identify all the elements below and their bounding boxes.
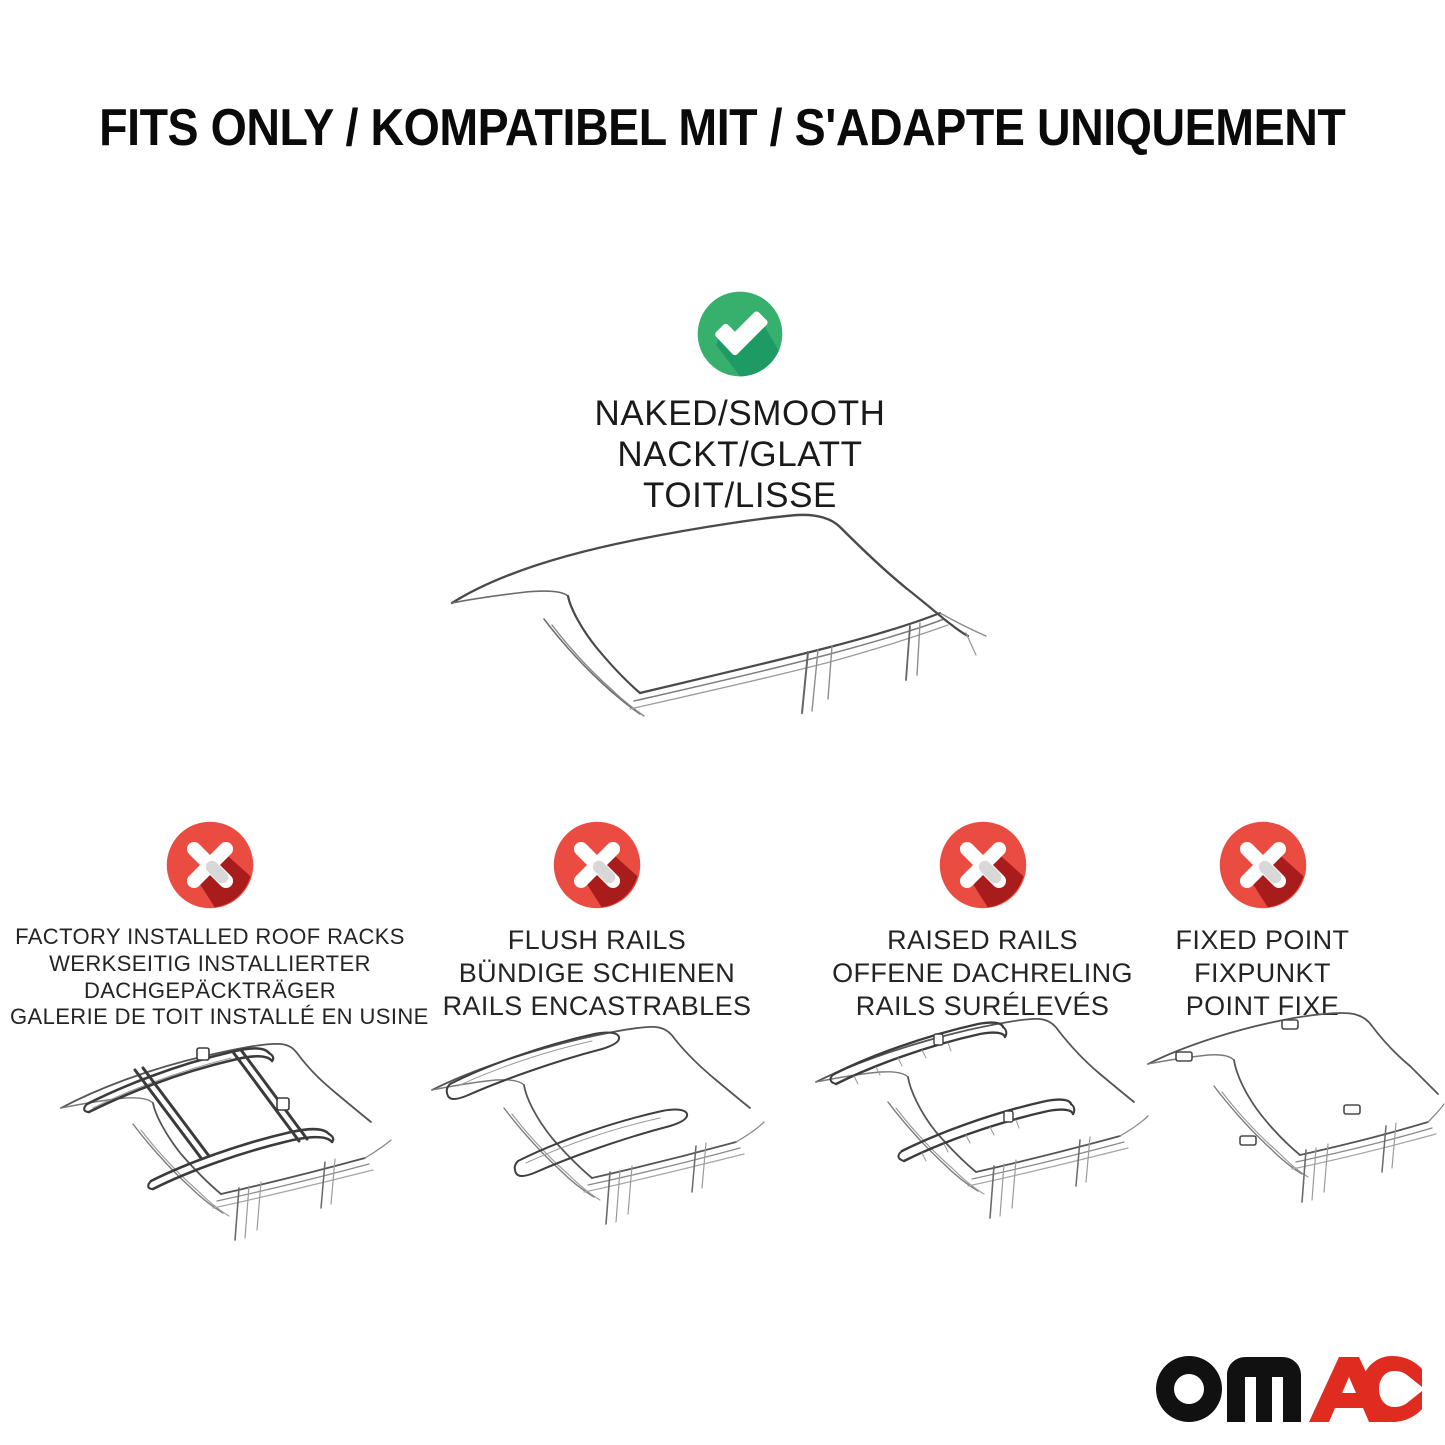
x-circle-icon bbox=[1216, 818, 1310, 912]
flush-rails-illustration bbox=[412, 1008, 782, 1243]
raised-rails-illustration bbox=[798, 1008, 1168, 1243]
rejected-item-raised-rails: RAISED RAILS OFFENE DACHRELING RAILS SUR… bbox=[790, 818, 1175, 1023]
x-circle-icon bbox=[936, 818, 1030, 912]
check-circle-icon bbox=[694, 288, 786, 380]
x-circle-icon bbox=[550, 818, 644, 912]
page-title-text: FITS ONLY / KOMPATIBEL MIT / S'ADAPTE UN… bbox=[99, 98, 1345, 158]
reject-label-en: FIXED POINT bbox=[1140, 924, 1385, 957]
reject-label-de: FIXPUNKT bbox=[1140, 957, 1385, 990]
reject-label-en: FLUSH RAILS bbox=[412, 924, 782, 957]
omac-logo bbox=[1153, 1353, 1423, 1425]
naked-smooth-roof-illustration bbox=[420, 495, 1040, 745]
reject-label-de-2: DACHGEPÄCKTRÄGER bbox=[10, 978, 410, 1005]
reject-label-de: OFFENE DACHRELING bbox=[790, 957, 1175, 990]
rejected-item-flush-rails: FLUSH RAILS BÜNDIGE SCHIENEN RAILS ENCAS… bbox=[412, 818, 782, 1023]
x-circle-icon bbox=[163, 818, 257, 912]
reject-label-de: BÜNDIGE SCHIENEN bbox=[412, 957, 782, 990]
rejected-item-factory-installed-roof-racks: FACTORY INSTALLED ROOF RACKS WERKSEITIG … bbox=[10, 818, 410, 1031]
fixed-point-illustration bbox=[1140, 1008, 1445, 1243]
approved-label-de: NACKT/GLATT bbox=[495, 435, 985, 476]
approved-roof-type-group: NAKED/SMOOTH NACKT/GLATT TOIT/LISSE bbox=[495, 288, 985, 517]
reject-label-de-1: WERKSEITIG INSTALLIERTER bbox=[10, 951, 410, 978]
page-title: FITS ONLY / KOMPATIBEL MIT / S'ADAPTE UN… bbox=[0, 98, 1445, 158]
rejected-item-fixed-point: FIXED POINT FIXPUNKT POINT FIXE bbox=[1140, 818, 1385, 1023]
factory-roof-rack-illustration bbox=[25, 1008, 395, 1243]
rejected-roof-types-row: FACTORY INSTALLED ROOF RACKS WERKSEITIG … bbox=[0, 818, 1445, 1248]
reject-label-en: RAISED RAILS bbox=[790, 924, 1175, 957]
approved-label-en: NAKED/SMOOTH bbox=[495, 394, 985, 435]
reject-label-en: FACTORY INSTALLED ROOF RACKS bbox=[10, 924, 410, 951]
